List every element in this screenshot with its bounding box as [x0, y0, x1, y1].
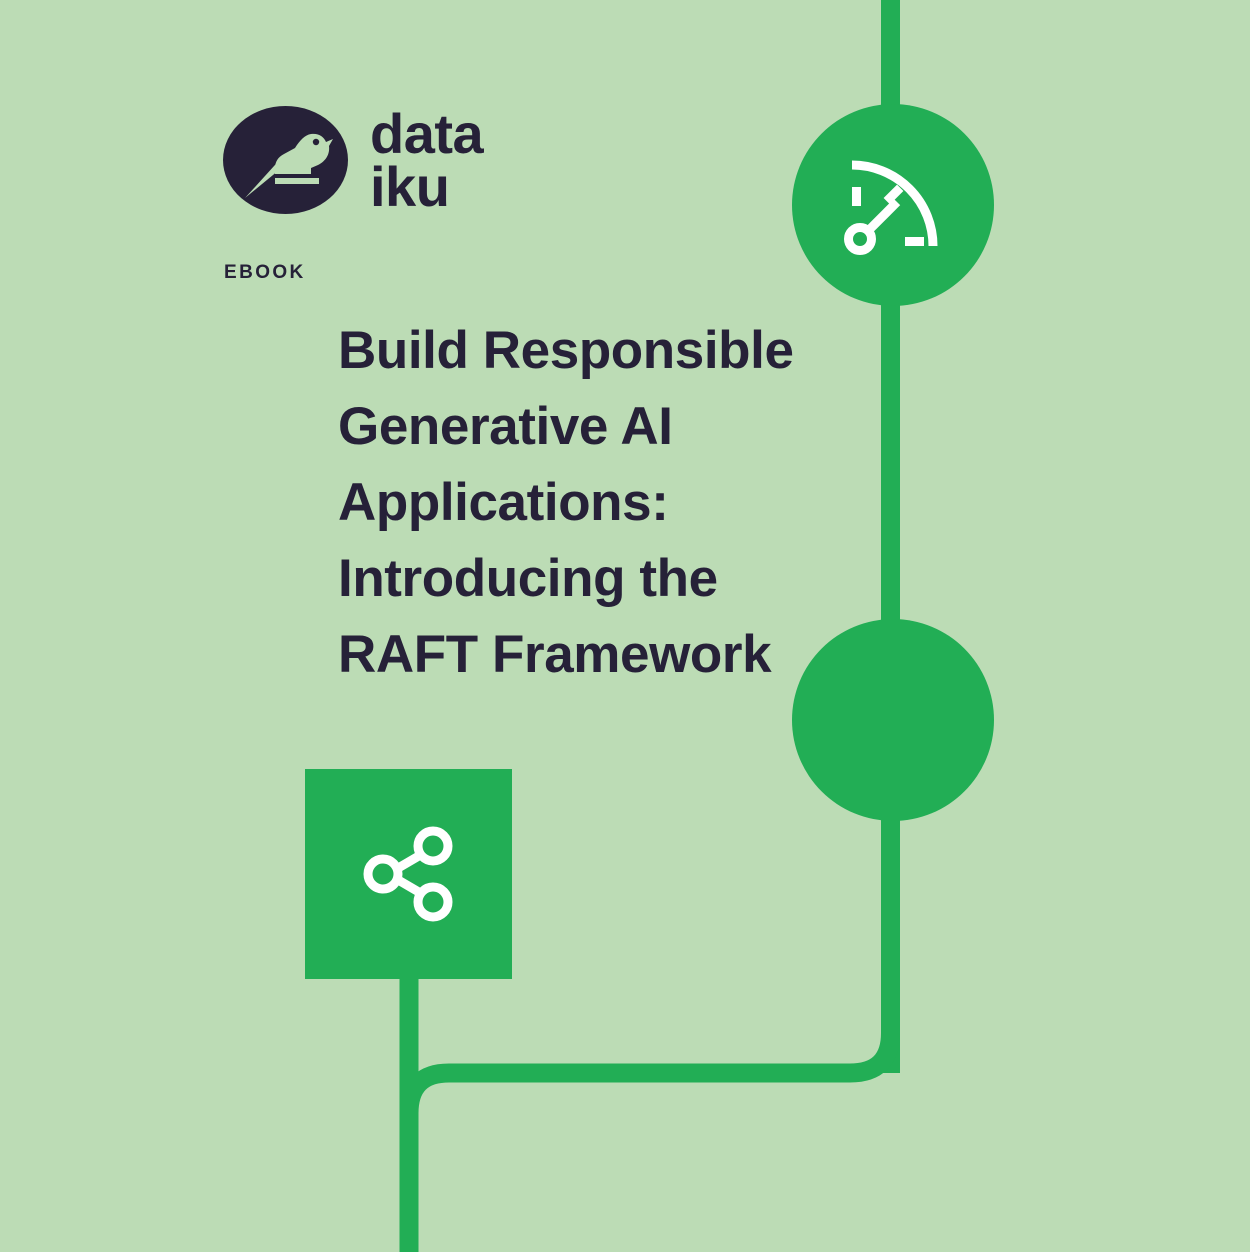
eyebrow-label: EBOOK	[224, 262, 306, 284]
title-line: RAFT Framework	[338, 617, 898, 693]
gauge-node	[792, 104, 994, 306]
share-node	[305, 769, 512, 979]
wordmark-line-2: iku	[370, 160, 483, 213]
title-line: Generative AI	[338, 389, 898, 465]
dataiku-wordmark: data iku	[370, 107, 483, 213]
title-line: Introducing the	[338, 541, 898, 617]
dataiku-bird-icon	[223, 106, 348, 214]
ebook-cover: data iku EBOOK Build Responsible Generat…	[0, 0, 1250, 1252]
wordmark-line-1: data	[370, 107, 483, 160]
gauge-icon	[840, 152, 946, 258]
elbow-connector-pipe	[409, 1010, 891, 1252]
title-line: Build Responsible	[338, 313, 898, 389]
title-line: Applications:	[338, 465, 898, 541]
dataiku-logo[interactable]: data iku	[223, 106, 483, 214]
page-title: Build Responsible Generative AI Applicat…	[338, 313, 898, 693]
share-nodes-icon	[359, 824, 459, 924]
